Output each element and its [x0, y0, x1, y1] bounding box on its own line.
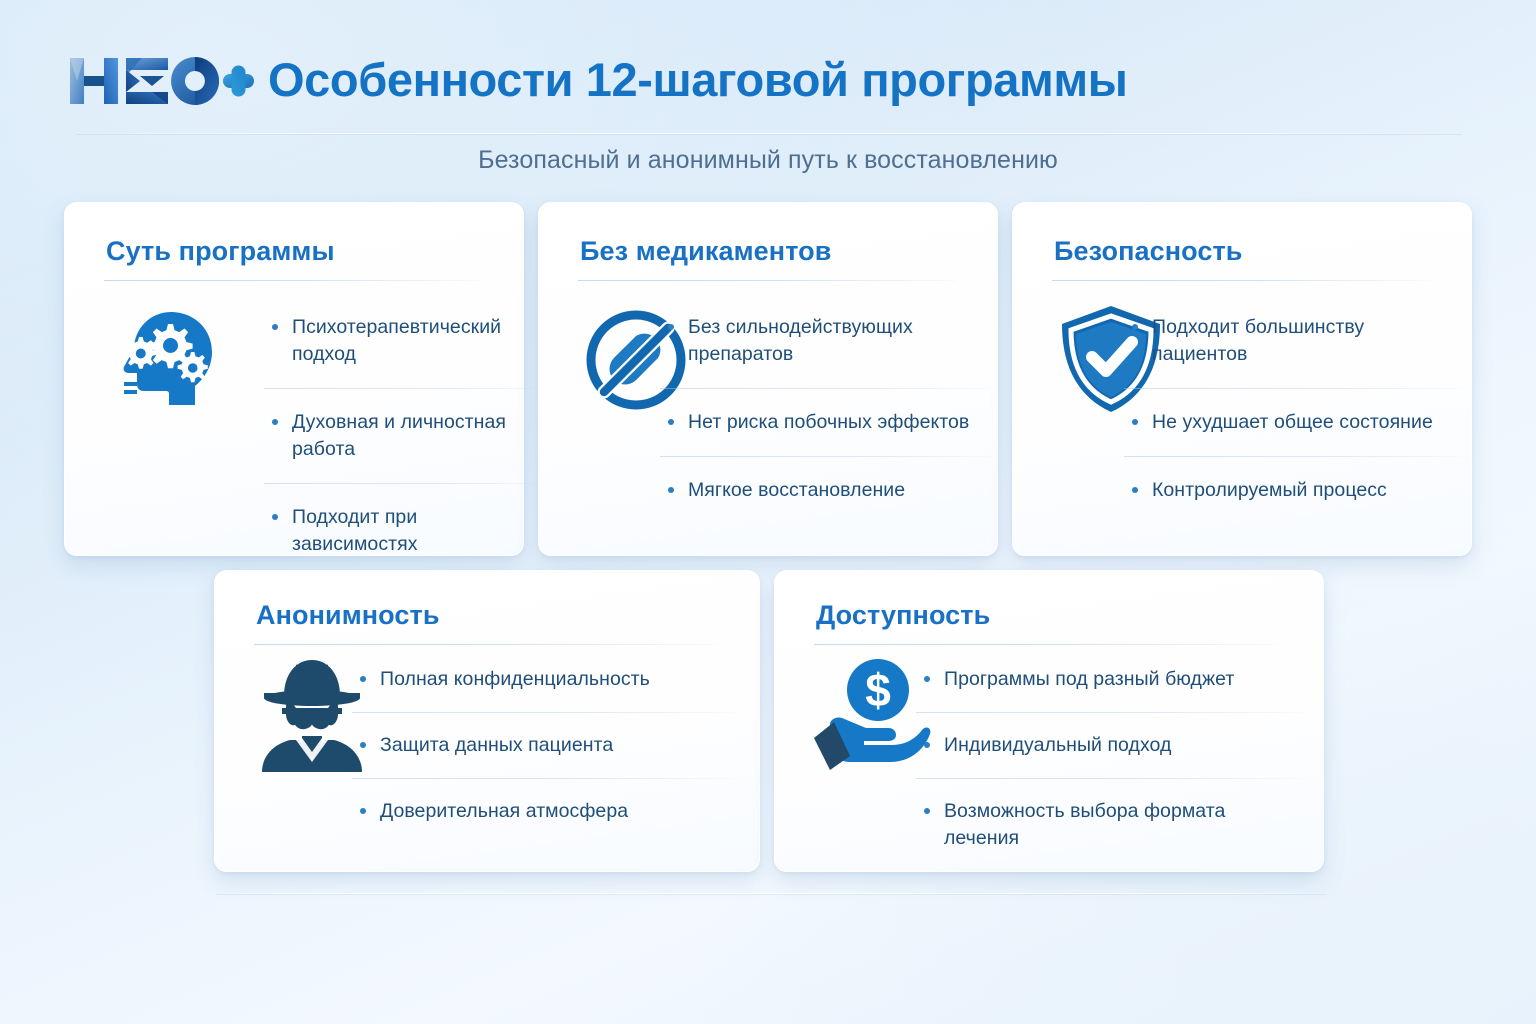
list-item: Защита данных пациента: [358, 732, 738, 759]
list-separator: [916, 712, 1306, 713]
list-separator: [352, 712, 740, 713]
list-item-label: Духовная и личностная работа: [292, 411, 506, 460]
bullet-dot: [360, 808, 366, 814]
card-sut-programmy[interactable]: Суть программы: [64, 202, 524, 556]
card-title-divider: [578, 280, 956, 281]
bullet-dot: [668, 324, 674, 330]
list-separator: [660, 456, 992, 457]
list-item-label: Не ухудшает общее состояние: [1152, 411, 1433, 433]
bullet-dot: [668, 419, 674, 425]
footer-divider: [216, 893, 1326, 894]
list-separator: [660, 388, 992, 389]
bullet-dot: [924, 676, 930, 682]
list-item: Мягкое восстановление: [666, 477, 986, 504]
list-item: Подходит при зависимостях: [270, 504, 538, 558]
bullet-dot: [272, 514, 278, 520]
card-title: Доступность: [816, 600, 990, 631]
list-item-label: Возможность выбора формата лечения: [944, 800, 1225, 849]
list-item: Нет риска побочных эффектов: [666, 409, 986, 436]
card-title: Анонимность: [256, 600, 440, 631]
card-bullet-list: Без сильнодействующих препаратов Нет рис…: [666, 314, 986, 504]
infographic-page: Особенности 12-шаговой программы Безопас…: [0, 0, 1536, 1024]
bullet-dot: [1132, 487, 1138, 493]
list-item-label: Нет риска побочных эффектов: [688, 411, 969, 433]
card-title-divider: [104, 280, 482, 281]
list-item-label: Контролируемый процесс: [1152, 479, 1387, 501]
list-item-label: Подходит большинству пациентов: [1152, 316, 1364, 365]
card-dostupnost[interactable]: Доступность $ Программы под разный бюдже…: [774, 570, 1324, 872]
list-separator: [264, 483, 554, 484]
neo-plus-logo: [64, 50, 254, 112]
header-divider: [76, 133, 1462, 134]
list-item: Не ухудшает общее состояние: [1130, 409, 1460, 436]
card-bezopasnost[interactable]: Безопасность Подходит большинству пациен…: [1012, 202, 1472, 556]
bullet-dot: [924, 808, 930, 814]
list-item: Подходит большинству пациентов: [1130, 314, 1460, 368]
list-item-label: Полная конфиденциальность: [380, 668, 650, 690]
incognito-icon: [252, 652, 372, 776]
list-item: Индивидуальный подход: [922, 732, 1302, 759]
bullet-dot: [360, 676, 366, 682]
bullet-dot: [1132, 324, 1138, 330]
list-item: Контролируемый процесс: [1130, 477, 1460, 504]
list-item: Программы под разный бюджет: [922, 666, 1302, 693]
card-title: Без медикаментов: [580, 236, 831, 267]
list-item-label: Психотерапевтический подход: [292, 316, 501, 365]
card-bullet-list: Психотерапевтический подход Духовная и л…: [270, 314, 538, 558]
hand-holding-coin-icon: $: [806, 652, 934, 774]
list-item: Возможность выбора формата лечения: [922, 798, 1302, 852]
list-item-label: Индивидуальный подход: [944, 734, 1171, 756]
list-item-label: Доверительная атмосфера: [380, 800, 628, 822]
card-title-divider: [1052, 280, 1430, 281]
card-bullet-list: Подходит большинству пациентов Не ухудша…: [1130, 314, 1460, 504]
list-item-label: Мягкое восстановление: [688, 479, 905, 501]
list-item-label: Подходит при зависимостях: [292, 506, 418, 555]
bullet-dot: [668, 487, 674, 493]
list-separator: [1124, 456, 1462, 457]
list-item: Доверительная атмосфера: [358, 798, 738, 825]
bullet-dot: [272, 419, 278, 425]
svg-text:$: $: [865, 664, 891, 716]
list-item-label: Программы под разный бюджет: [944, 668, 1234, 690]
card-bez-medikamentov[interactable]: Без медикаментов Без сильнодействующих п…: [538, 202, 998, 556]
card-title-divider: [254, 644, 718, 645]
list-separator: [1124, 388, 1462, 389]
list-item: Полная конфиденциальность: [358, 666, 738, 693]
card-bullet-list: Полная конфиденциальность Защита данных …: [358, 666, 738, 825]
card-anonimnost[interactable]: Анонимность: [214, 570, 760, 872]
head-with-gears-icon: [108, 304, 222, 418]
list-item-label: Без сильнодействующих препаратов: [688, 316, 913, 365]
card-title: Суть программы: [106, 236, 335, 267]
list-item: Без сильнодействующих препаратов: [666, 314, 986, 368]
card-title-divider: [814, 644, 1278, 645]
bullet-dot: [360, 742, 366, 748]
card-bullet-list: Программы под разный бюджет Индивидуальн…: [922, 666, 1302, 852]
bullet-dot: [272, 324, 278, 330]
list-item-label: Защита данных пациента: [380, 734, 613, 756]
page-header: Особенности 12-шаговой программы Безопас…: [0, 0, 1536, 134]
bullet-dot: [1132, 419, 1138, 425]
list-separator: [916, 778, 1306, 779]
card-title: Безопасность: [1054, 236, 1243, 267]
page-subtitle: Безопасный и анонимный путь к восстановл…: [0, 146, 1536, 175]
list-item: Духовная и личностная работа: [270, 409, 538, 463]
page-title: Особенности 12-шаговой программы: [268, 49, 1128, 111]
list-separator: [264, 388, 554, 389]
list-item: Психотерапевтический подход: [270, 314, 538, 368]
list-separator: [352, 778, 740, 779]
bullet-dot: [924, 742, 930, 748]
